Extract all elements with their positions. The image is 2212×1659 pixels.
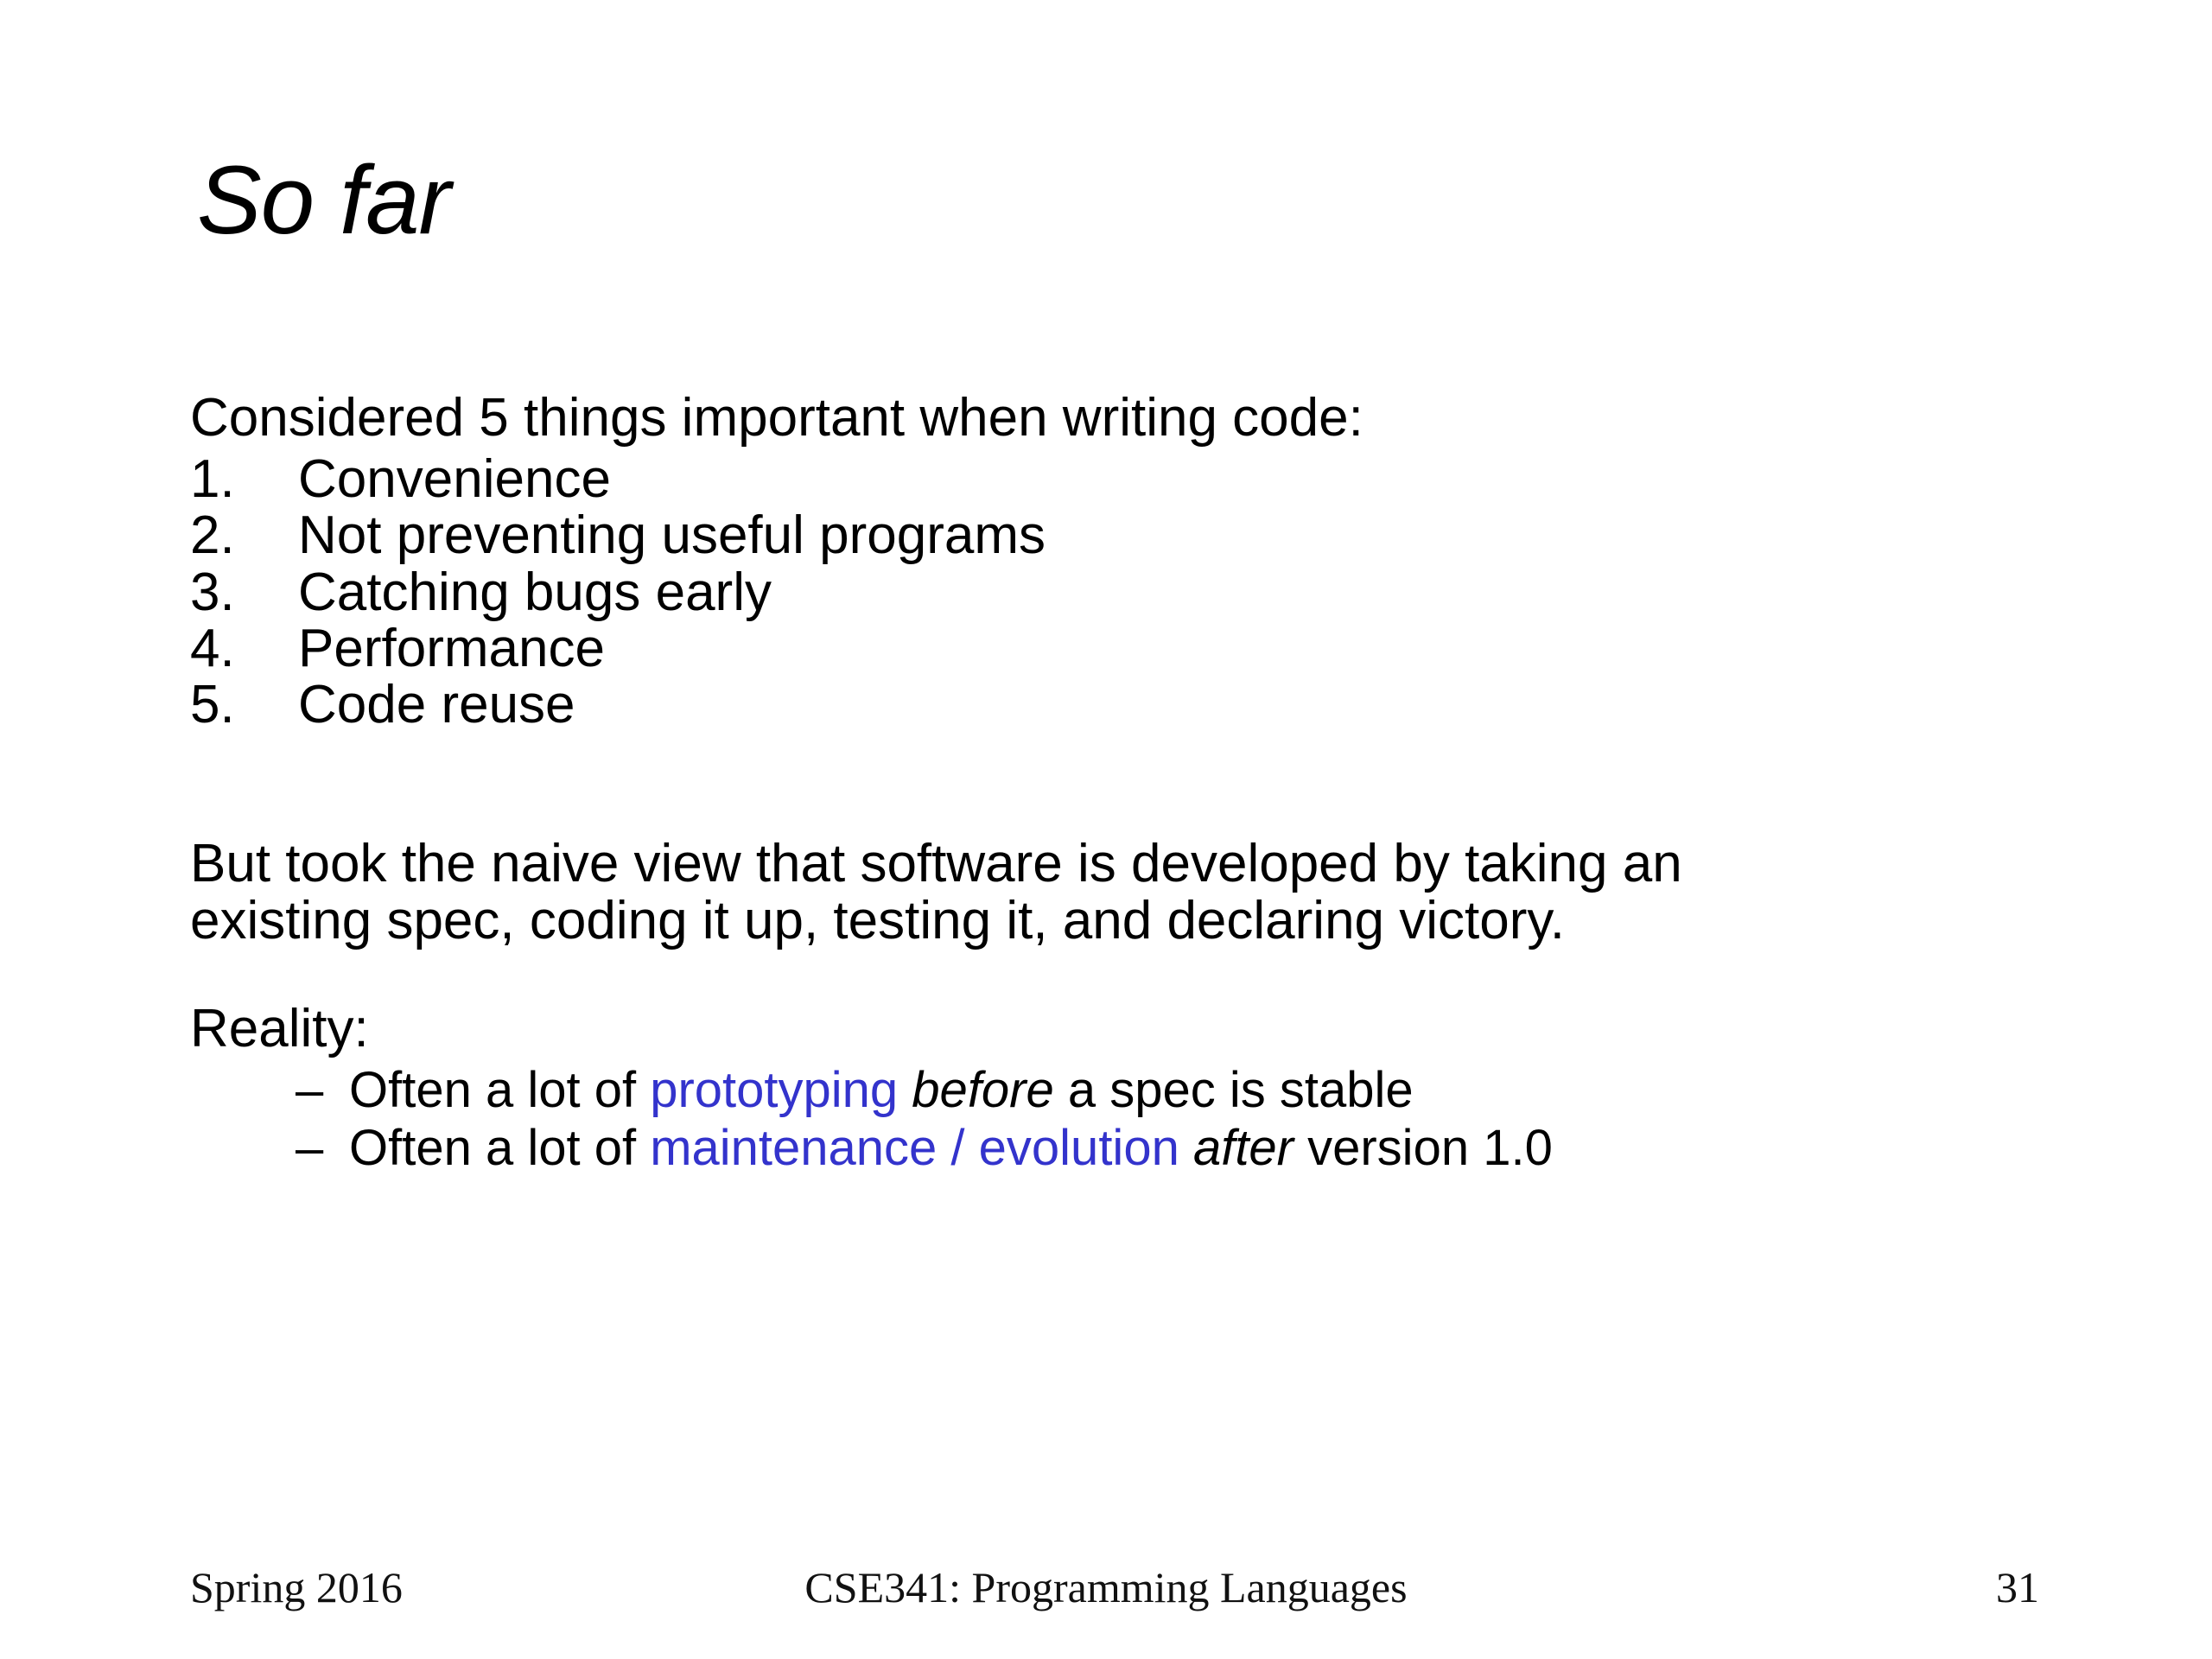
numbered-list: 1. Convenience 2. Not preventing useful … — [190, 452, 1918, 734]
slide-canvas: So far Considered 5 things important whe… — [0, 0, 2212, 1659]
paragraph-line: But took the naive view that software is… — [190, 836, 1884, 893]
bullet-text-after: a spec is stable — [1054, 1062, 1414, 1118]
list-item: – Often a lot of maintenance / evolution… — [296, 1122, 1918, 1180]
bullet-text-after: version 1.0 — [1294, 1120, 1553, 1176]
en-dash-icon: – — [296, 1122, 349, 1173]
list-item-label: Performance — [298, 621, 1918, 676]
slide-body: Considered 5 things important when writi… — [190, 391, 1918, 1180]
footer-page-number: 31 — [1996, 1562, 2039, 1612]
bullet-emphasis: after — [1179, 1120, 1294, 1176]
list-item-label: Catching bugs early — [298, 565, 1918, 620]
list-item: 1. Convenience — [190, 452, 1918, 508]
reality-bullet-list: – Often a lot of prototyping before a sp… — [190, 1065, 1918, 1180]
list-item-marker: 5. — [190, 677, 298, 732]
body-lead-line: Considered 5 things important when writi… — [190, 391, 1918, 445]
bullet-text-before: Often a lot of — [349, 1120, 650, 1176]
list-item-label: Code reuse — [298, 677, 1918, 732]
list-item-label: Not preventing useful programs — [298, 508, 1918, 563]
slide-footer: Spring 2016 CSE341: Programming Language… — [0, 1562, 2212, 1623]
bullet-text: Often a lot of maintenance / evolution a… — [349, 1122, 1918, 1173]
reality-heading: Reality: — [190, 1001, 1918, 1056]
bullet-highlight: maintenance / evolution — [650, 1120, 1179, 1176]
list-item-label: Convenience — [298, 452, 1918, 506]
naive-view-paragraph: But took the naive view that software is… — [190, 836, 1884, 949]
list-item: 3. Catching bugs early — [190, 565, 1918, 621]
list-item: 2. Not preventing useful programs — [190, 508, 1918, 564]
list-item: 5. Code reuse — [190, 677, 1918, 734]
list-item: – Often a lot of prototyping before a sp… — [296, 1065, 1918, 1122]
list-item-marker: 3. — [190, 565, 298, 620]
en-dash-icon: – — [296, 1065, 349, 1116]
bullet-text: Often a lot of prototyping before a spec… — [349, 1065, 1918, 1116]
page-title: So far — [197, 145, 450, 257]
paragraph-line: existing spec, coding it up, testing it,… — [190, 893, 1884, 950]
list-item-marker: 2. — [190, 508, 298, 563]
list-item-marker: 4. — [190, 621, 298, 676]
bullet-emphasis: before — [898, 1062, 1054, 1118]
list-item-marker: 1. — [190, 452, 298, 506]
list-item: 4. Performance — [190, 621, 1918, 677]
bullet-highlight: prototyping — [650, 1062, 898, 1118]
bullet-text-before: Often a lot of — [349, 1062, 650, 1118]
footer-course: CSE341: Programming Languages — [0, 1562, 2212, 1612]
